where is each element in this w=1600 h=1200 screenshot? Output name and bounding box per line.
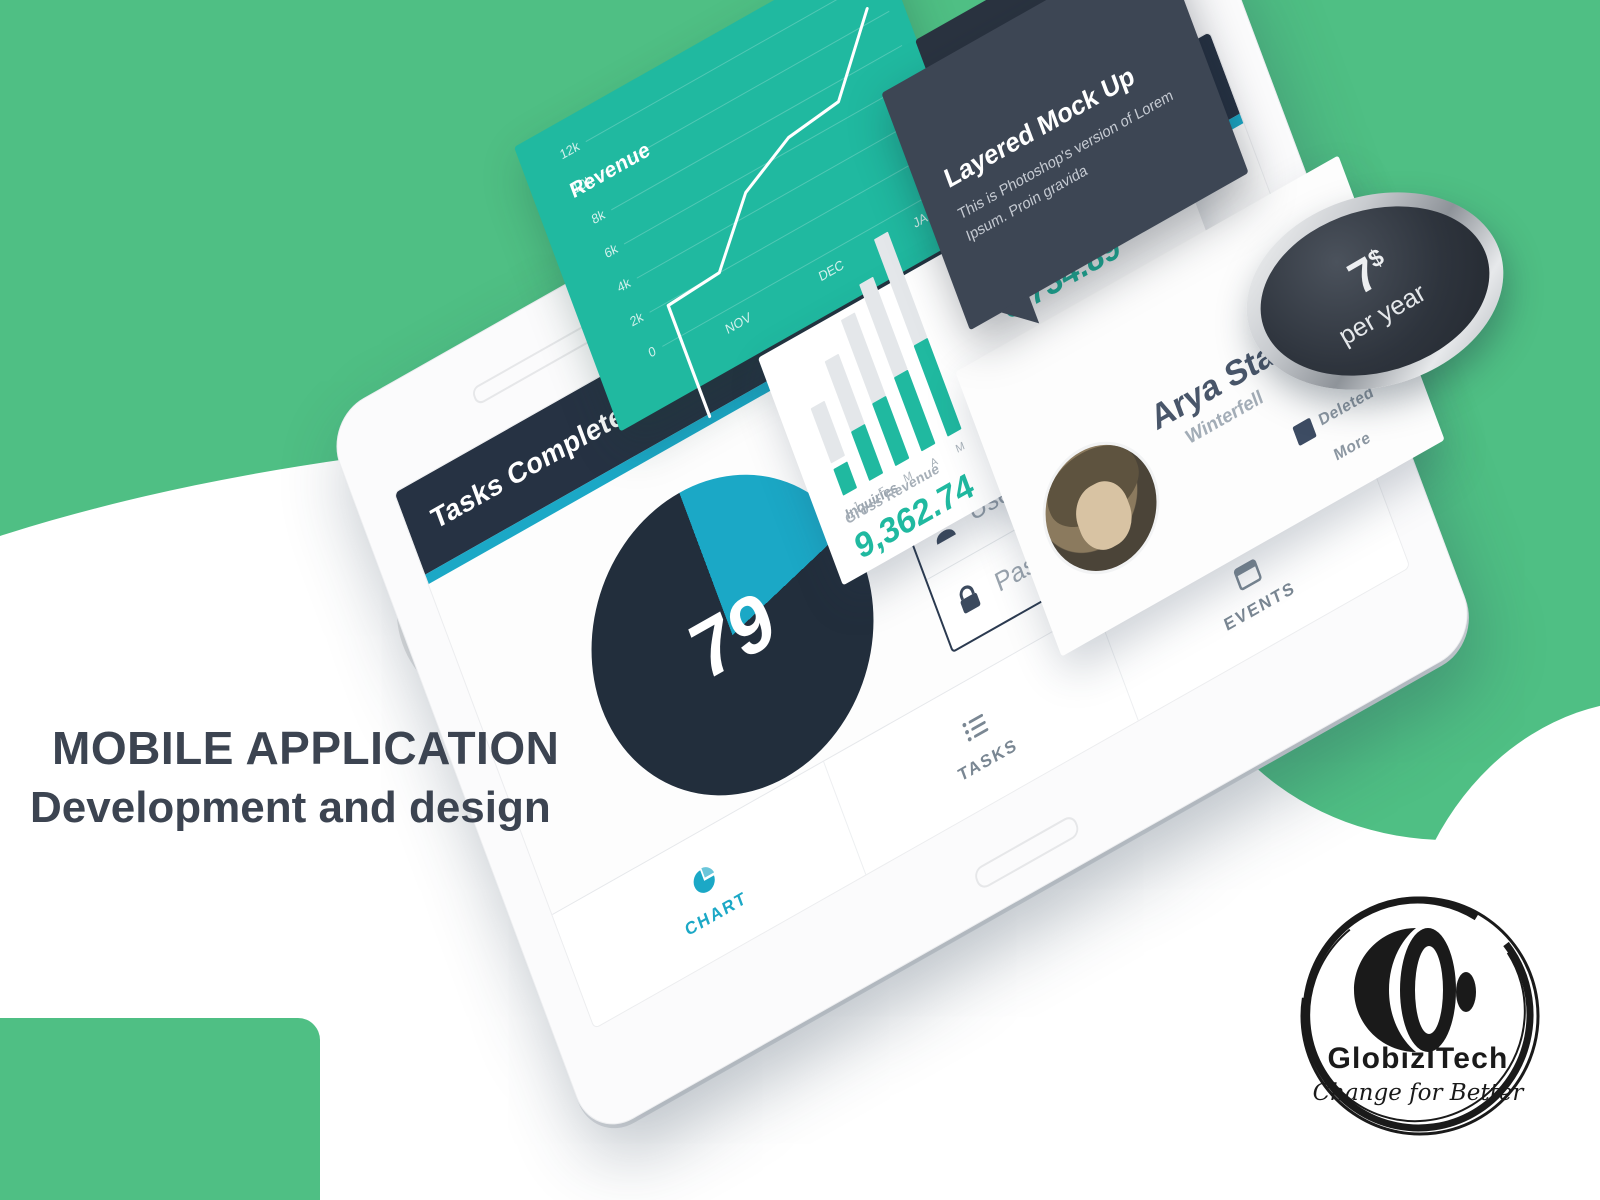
y-tick-6: 0 <box>646 343 658 361</box>
list-icon <box>957 705 994 748</box>
pie-chart-icon <box>685 859 722 902</box>
more-chip-label[interactable]: More <box>1332 429 1373 466</box>
logo-tagline: Change for Better <box>1288 1080 1548 1106</box>
logo-name: GlobizITech <box>1288 1042 1548 1076</box>
y-tick-2: 8k <box>590 206 607 227</box>
avatar <box>1025 419 1177 598</box>
brand-logo: GlobizITech Change for Better <box>1288 892 1548 1154</box>
decor-green-rounded-rect <box>0 1018 320 1200</box>
y-tick-0: 12k <box>558 138 582 163</box>
deleted-chip-square <box>1292 417 1316 446</box>
y-tick-4: 4k <box>615 274 632 295</box>
poster-canvas: iOS7 Tasks Completed 79 <box>0 0 1600 1200</box>
headline-block: MOBILE APPLICATION Development and desig… <box>52 724 812 832</box>
y-tick-5: 2k <box>628 309 645 330</box>
logo-mark-icon <box>1288 892 1548 1154</box>
headline-line1: MOBILE APPLICATION <box>52 724 812 773</box>
headline-line2: Development and design <box>30 783 812 832</box>
lock-icon <box>951 577 988 620</box>
tab-events-label: EVENTS <box>1221 577 1298 635</box>
y-tick-3: 6k <box>602 240 619 261</box>
